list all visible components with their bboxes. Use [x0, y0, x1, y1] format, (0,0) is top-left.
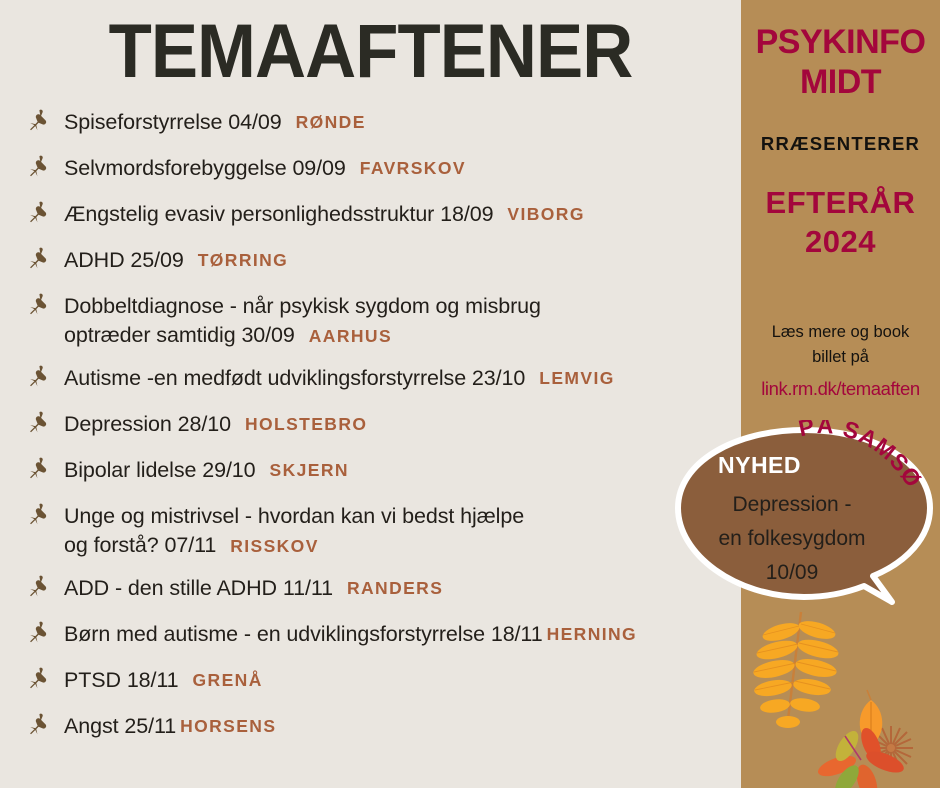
list-item[interactable]: Dobbeltdiagnose - når psykisk sygdom og … — [22, 292, 737, 351]
event-title: Ængstelig evasiv personlighedsstruktur 1… — [64, 200, 493, 229]
event-title: Selvmordsforebyggelse 09/09 — [64, 154, 346, 183]
news-badge: NYHED — [718, 452, 801, 479]
booking-link[interactable]: link.rm.dk/temaaften — [741, 378, 940, 400]
season-year: EFTERÅR 2024 — [741, 183, 940, 261]
palmate-leaf-icon — [815, 725, 906, 788]
left-panel: TEMAAFTENER Spiseforstyrrelse 04/09 RØND… — [0, 0, 741, 788]
event-location: HORSENS — [180, 712, 276, 741]
event-list: Spiseforstyrrelse 04/09 RØNDE Selvmordsf… — [22, 108, 737, 758]
pushpin-icon — [22, 109, 52, 137]
orange-leaf-icon — [860, 690, 883, 746]
list-item[interactable]: Selvmordsforebyggelse 09/09 FAVRSKOV — [22, 154, 737, 184]
brand-name: PSYKINFO MIDT — [741, 22, 940, 102]
pushpin-icon — [22, 575, 52, 603]
pushpin-icon — [22, 155, 52, 183]
pushpin-icon — [22, 667, 52, 695]
list-item[interactable]: Spiseforstyrrelse 04/09 RØNDE — [22, 108, 737, 138]
pushpin-icon — [22, 621, 52, 649]
booking-note: Læs mere og book billet på — [745, 320, 936, 370]
list-item[interactable]: Bipolar lidelse 29/10 SKJERN — [22, 456, 737, 486]
island-label: PÅ SAMSØ — [790, 420, 940, 515]
event-location: HOLSTEBRO — [245, 410, 367, 439]
event-location: TØRRING — [198, 246, 289, 275]
list-item[interactable]: Ængstelig evasiv personlighedsstruktur 1… — [22, 200, 737, 230]
pinnate-leaf-icon — [752, 612, 841, 728]
island-label-text: PÅ SAMSØ — [796, 420, 927, 492]
event-title: Unge og mistrivsel - hvordan kan vi beds… — [64, 504, 524, 528]
list-item[interactable]: Depression 28/10 HOLSTEBRO — [22, 410, 737, 440]
event-title: ADD - den stille ADHD 11/11 — [64, 574, 333, 603]
pushpin-icon — [22, 713, 52, 741]
event-title: Børn med autisme - en udviklingsforstyrr… — [64, 620, 543, 649]
event-title: Dobbeltdiagnose - når psykisk sygdom og … — [64, 294, 541, 318]
event-title: Angst 25/11 — [64, 712, 176, 741]
event-title: Spiseforstyrrelse 04/09 — [64, 108, 282, 137]
page-title: TEMAAFTENER — [26, 8, 715, 95]
sidebar-panel: PSYKINFO MIDT RRÆSENTERER EFTERÅR 2024 L… — [741, 0, 940, 788]
poster-canvas: TEMAAFTENER Spiseforstyrrelse 04/09 RØND… — [0, 0, 940, 788]
event-location: FAVRSKOV — [360, 154, 466, 183]
pushpin-icon — [22, 503, 52, 531]
event-location: LEMVIG — [539, 364, 615, 393]
event-title-line2: optræder samtidig 30/09 — [64, 321, 295, 350]
event-location: RISSKOV — [230, 532, 319, 561]
pushpin-icon — [22, 293, 52, 321]
list-item[interactable]: Børn med autisme - en udviklingsforstyrr… — [22, 620, 737, 650]
list-item[interactable]: Angst 25/11 HORSENS — [22, 712, 737, 742]
pushpin-icon — [22, 365, 52, 393]
event-location: RØNDE — [296, 108, 366, 137]
event-title-line2: og forstå? 07/11 — [64, 531, 216, 560]
event-location: GRENÅ — [193, 666, 263, 695]
list-item[interactable]: PTSD 18/11 GRENÅ — [22, 666, 737, 696]
list-item[interactable]: Autisme -en medfødt udviklingsforstyrrel… — [22, 364, 737, 394]
star-anise-icon — [869, 726, 913, 770]
pushpin-icon — [22, 247, 52, 275]
event-title: Depression 28/10 — [64, 410, 231, 439]
pushpin-icon — [22, 457, 52, 485]
event-title: Autisme -en medfødt udviklingsforstyrrel… — [64, 364, 525, 393]
event-title: PTSD 18/11 — [64, 666, 179, 695]
event-location: RANDERS — [347, 574, 443, 603]
event-title: ADHD 25/09 — [64, 246, 184, 275]
event-location: HERNING — [547, 620, 638, 649]
presents-label: RRÆSENTERER — [741, 133, 940, 155]
pushpin-icon — [22, 411, 52, 439]
event-location: SKJERN — [270, 456, 349, 485]
event-location: VIBORG — [507, 200, 584, 229]
pushpin-icon — [22, 201, 52, 229]
event-title: Bipolar lidelse 29/10 — [64, 456, 256, 485]
list-item[interactable]: ADD - den stille ADHD 11/11 RANDERS — [22, 574, 737, 604]
event-location: AARHUS — [309, 322, 392, 351]
list-item[interactable]: ADHD 25/09 TØRRING — [22, 246, 737, 276]
list-item[interactable]: Unge og mistrivsel - hvordan kan vi beds… — [22, 502, 737, 561]
